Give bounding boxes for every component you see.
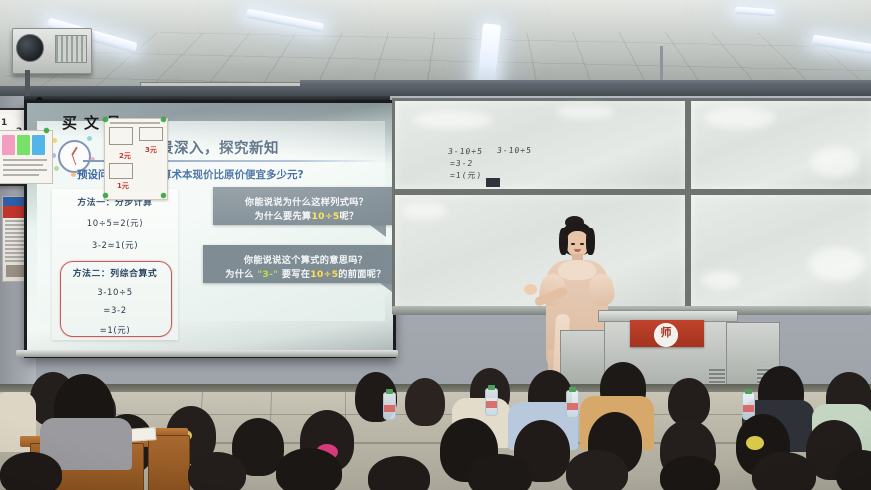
question-callout-2: 你能说说这个算式的意思吗？ 为什么 "3-" 要写在10÷5的前面呢？ <box>203 245 408 283</box>
water-bottle <box>383 392 396 420</box>
student-head <box>468 454 532 490</box>
student-head <box>0 452 62 490</box>
poster-card-blue <box>32 135 45 155</box>
projection-screen: （二）情景深入，探究新知 预设问题二：每本算术本现价比原价便宜多少元? 方法一：… <box>24 100 396 358</box>
question-callout-1: 你能说说为什么这样列式吗？ 为什么要先算10÷5呢？ <box>213 187 400 225</box>
callout-text-suffix: 的前面呢？ <box>338 269 385 280</box>
podium-banner: 师 <box>630 320 704 347</box>
bench-desk-panel <box>148 435 190 490</box>
student-head <box>405 378 445 426</box>
student-head <box>660 456 720 490</box>
hair-scrunchie <box>746 436 764 450</box>
student-head <box>566 450 628 490</box>
formula-line: =3-2 <box>52 306 178 316</box>
eye <box>580 243 584 245</box>
screen-bottom-weight-bar <box>16 350 398 357</box>
poster-card-pink <box>2 135 15 155</box>
callout-tail <box>370 225 386 237</box>
whiteboard-handwriting: 3-10÷5 <box>497 146 533 155</box>
student-head <box>752 452 816 490</box>
presentation-slide: （二）情景深入，探究新知 预设问题二：每本算术本现价比原价便宜多少元? 方法一：… <box>27 103 393 355</box>
student-head <box>188 452 246 490</box>
projector-vent <box>55 35 87 63</box>
whiteboard-handwriting: 3-10÷5 <box>448 147 484 156</box>
whiteboard-panel-top-right <box>688 98 871 192</box>
callout-text-prefix: 为什么 <box>225 269 257 280</box>
school-emblem-icon: 师 <box>654 323 678 347</box>
emblem-glyph: 师 <box>655 327 677 338</box>
method-formula-card: 方法一：分步计算 10÷5=2(元) 3-2=1(元) 方法二：列综合算式 3-… <box>52 189 178 340</box>
hair-side <box>559 228 568 255</box>
projector-icon <box>12 28 92 74</box>
eye <box>571 243 575 245</box>
formula-line: 方法二：列综合算式 <box>52 266 178 279</box>
callout-text-mid: 要写在 <box>278 269 310 280</box>
formula-line: 10÷5=2(元) <box>52 217 178 229</box>
callout-highlight-b: 10÷5 <box>310 269 338 280</box>
water-bottle <box>485 388 498 416</box>
formula-line: =1(元) <box>52 324 178 336</box>
student-head <box>668 378 710 426</box>
pointing-hand <box>524 284 537 295</box>
callout-highlight: 10÷5 <box>311 211 339 222</box>
callout-line-1: 你能说说为什么这样列式吗？ <box>213 194 400 208</box>
slide-canvas: （二）情景深入，探究新知 预设问题二：每本算术本现价比原价便宜多少元? 方法一：… <box>37 121 385 321</box>
formula-line: 3-2=1(元) <box>52 239 178 251</box>
whiteboard-handwriting: =1(元) <box>449 170 482 181</box>
dress-collar <box>558 260 596 280</box>
whiteboard <box>392 98 871 318</box>
callout-highlight-a: "3-" <box>257 269 278 280</box>
whiteboard-fixture <box>486 178 500 187</box>
chart-poster: 2元 3元 1元 <box>104 118 168 200</box>
student-head <box>276 448 342 490</box>
whiteboard-handwriting: =3-2 <box>450 159 474 168</box>
whiteboard-panel-top-left <box>392 98 688 192</box>
hair-side <box>586 228 595 255</box>
ceiling <box>0 0 871 100</box>
callout-text-suffix: 呢？ <box>340 211 359 222</box>
callout-line-2: 为什么要先算10÷5呢？ <box>213 208 400 222</box>
formula-line: 3-10÷5 <box>52 288 178 298</box>
callout-text-prefix: 为什么要先算 <box>255 211 312 222</box>
poster-card-green <box>17 135 30 155</box>
whiteboard-panel-bottom-right <box>688 192 871 314</box>
projector-lens-icon <box>16 34 44 62</box>
callout-line-1: 你能说说这个算式的意思吗？ <box>203 252 408 266</box>
classroom-photo: 1 2 3 4 5 <box>0 0 871 490</box>
water-bottle <box>566 390 579 418</box>
color-card-poster <box>0 130 53 184</box>
clock-number: 1 <box>1 118 7 128</box>
callout-line-2: 为什么 "3-" 要写在10÷5的前面呢？ <box>203 266 408 280</box>
